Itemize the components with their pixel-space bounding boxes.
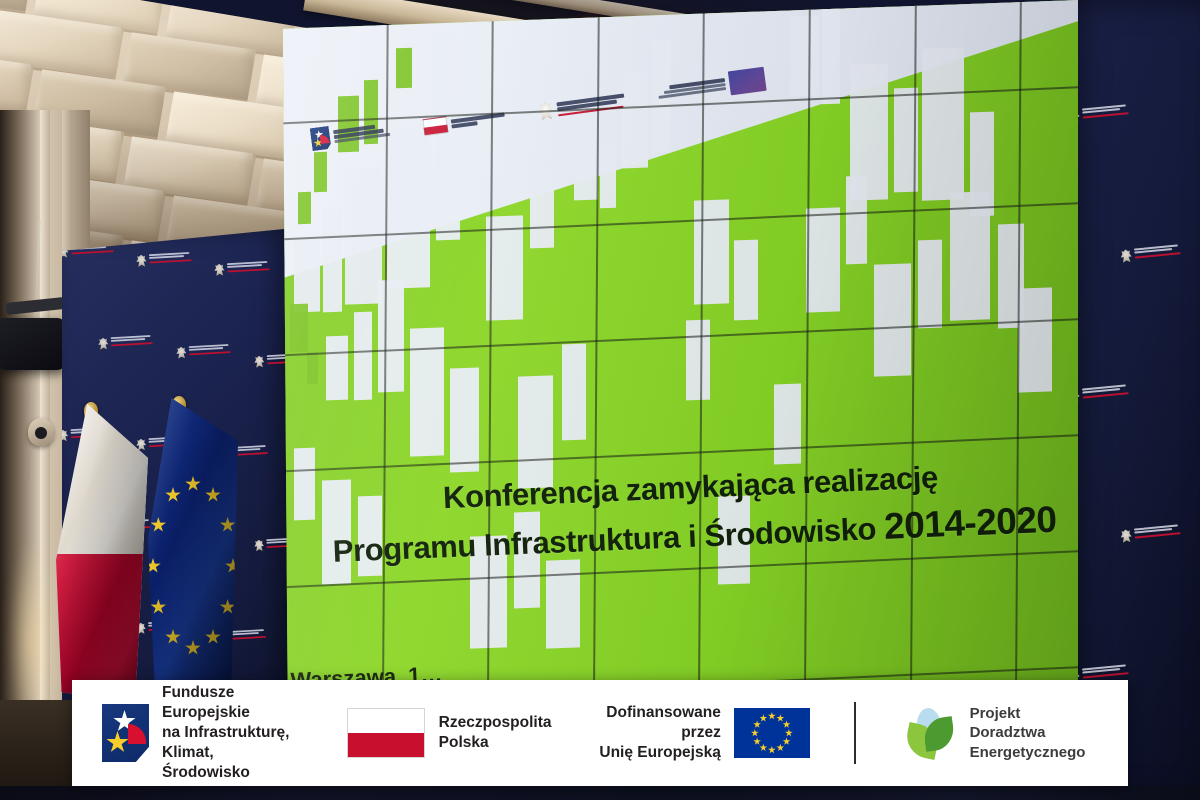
polish-eagle-icon: [254, 539, 264, 551]
polish-eagle-icon: [98, 337, 109, 349]
skyline-block: [387, 127, 430, 289]
eu-star-icon: [768, 712, 776, 720]
fe-line-1: Fundusze Europejskie: [162, 684, 250, 721]
eu-star-icon: [185, 640, 201, 656]
banner-divider: [854, 702, 856, 764]
leaf-logo-icon: [902, 708, 958, 758]
skyline-block: [298, 192, 311, 224]
polish-flag-icon: [347, 708, 425, 758]
banner-item-fundusze-europejskie: Fundusze Europejskie na Infrastrukturę, …: [102, 683, 295, 782]
eu-star-icon: [759, 714, 767, 722]
skyline-block: [518, 375, 553, 488]
ue-line-2: Unię Europejską: [599, 744, 720, 761]
skyline-block: [600, 144, 616, 209]
polish-eagle-icon: [176, 346, 187, 358]
skyline-block: [530, 168, 554, 249]
pde-line-2: Doradztwa Energetycznego: [970, 724, 1086, 761]
eu-star-icon: [205, 629, 221, 645]
floor-area: [0, 700, 75, 800]
skyline-block: [734, 240, 758, 321]
skyline-block: [922, 47, 964, 200]
backdrop-ministry-logo: [98, 335, 153, 350]
polish-eagle-icon: [214, 263, 225, 276]
skyline-block: [294, 240, 320, 313]
backdrop-ministry-logo: [214, 261, 270, 276]
conference-hall-photo: Konferencja zamykająca realizację Progra…: [0, 0, 1200, 800]
fundusze-europejskie-label: Fundusze Europejskie na Infrastrukturę, …: [162, 683, 295, 782]
banner-item-projekt-doradztwa-energetycznego: Projekt Doradztwa Energetycznego: [902, 704, 1128, 763]
skyline-block: [294, 448, 315, 521]
polish-eagle-icon: [1120, 249, 1132, 263]
dofinansowane-label: Dofinansowane przez Unię Europejską: [597, 703, 720, 762]
eu-star-icon: [205, 487, 221, 503]
eu-star-icon: [148, 558, 161, 574]
eu-star-icon: [165, 487, 181, 503]
fe-line-3: Klimat, Środowisko: [162, 744, 250, 781]
rp-line-1: Rzeczpospolita: [439, 714, 552, 731]
skyline-block: [290, 304, 308, 353]
skyline-block: [846, 176, 867, 265]
eu-star-icon: [783, 737, 791, 745]
backdrop-ministry-logo: [1120, 524, 1181, 543]
skyline-block: [774, 384, 801, 465]
eu-star-icon: [185, 476, 201, 492]
eu-star-icon: [220, 517, 236, 533]
skyline-block: [354, 312, 372, 401]
fundusze-europejskie-mark-icon: [310, 126, 332, 151]
eu-star-icon: [165, 629, 181, 645]
skyline-block: [686, 320, 710, 401]
skyline-block: [307, 352, 318, 384]
rp-line-2: Polska: [439, 734, 489, 751]
polish-eagle-icon: [136, 254, 147, 267]
headline-years: 2014-2020: [883, 499, 1057, 547]
eu-star-icon: [776, 714, 784, 722]
skyline-block: [950, 191, 990, 320]
skyline-block: [314, 152, 327, 192]
skyline-block: [1018, 287, 1052, 392]
projekt-doradztwa-label: Projekt Doradztwa Energetycznego: [970, 704, 1128, 763]
skyline-block: [326, 336, 348, 401]
eu-star-icon: [751, 729, 759, 737]
banner-under-shadow: [0, 786, 1200, 800]
polish-eagle-icon: [1120, 529, 1132, 543]
banner-item-dofinansowane-przez-ue: Dofinansowane przez Unię Europejską: [597, 703, 809, 762]
eu-star-icon: [220, 599, 236, 615]
skyline-block: [450, 367, 479, 472]
loudspeaker-icon: [0, 318, 66, 370]
skyline-block: [562, 344, 586, 441]
skyline-block: [378, 280, 404, 393]
polish-eagle-icon: [254, 355, 265, 367]
skyline-block: [574, 112, 598, 201]
polish-eagle-icon: [62, 429, 68, 441]
fe-line-2: na Infrastrukturę,: [162, 724, 289, 741]
eu-flag-mark-icon: [728, 67, 767, 96]
skyline-block: [694, 199, 729, 304]
skyline-block: [874, 263, 911, 376]
backdrop-ministry-logo: [176, 344, 231, 359]
polish-flag-mark-icon: [422, 116, 448, 136]
skyline-block: [806, 207, 840, 312]
eu-star-icon: [150, 599, 166, 615]
skyline-block: [323, 208, 342, 313]
eu-star-icon: [753, 737, 761, 745]
eu-flag-icon: [734, 708, 810, 758]
eu-star-icon: [785, 729, 793, 737]
banner-item-rzeczpospolita-polska: Rzeczpospolita Polska: [347, 708, 552, 758]
backdrop-ministry-logo: [1120, 244, 1181, 263]
wall-camera-icon: [28, 418, 54, 446]
rzeczpospolita-polska-label: Rzeczpospolita Polska: [439, 713, 552, 753]
backdrop-ministry-logo: [136, 252, 192, 267]
eu-star-icon: [753, 720, 761, 728]
eu-star-icon: [776, 744, 784, 752]
skyline-block: [790, 15, 819, 96]
eu-star-icon: [150, 517, 166, 533]
eu-star-icon: [783, 720, 791, 728]
sponsor-banner: Fundusze Europejskie na Infrastrukturę, …: [72, 680, 1128, 786]
skyline-block: [822, 8, 840, 105]
pde-line-1: Projekt: [970, 705, 1021, 722]
eu-star-icon: [768, 746, 776, 754]
skyline-block: [918, 240, 942, 329]
ue-line-1: Dofinansowane przez: [606, 704, 721, 741]
eu-star-icon: [759, 744, 767, 752]
fundusze-europejskie-logo-icon: [102, 704, 149, 762]
